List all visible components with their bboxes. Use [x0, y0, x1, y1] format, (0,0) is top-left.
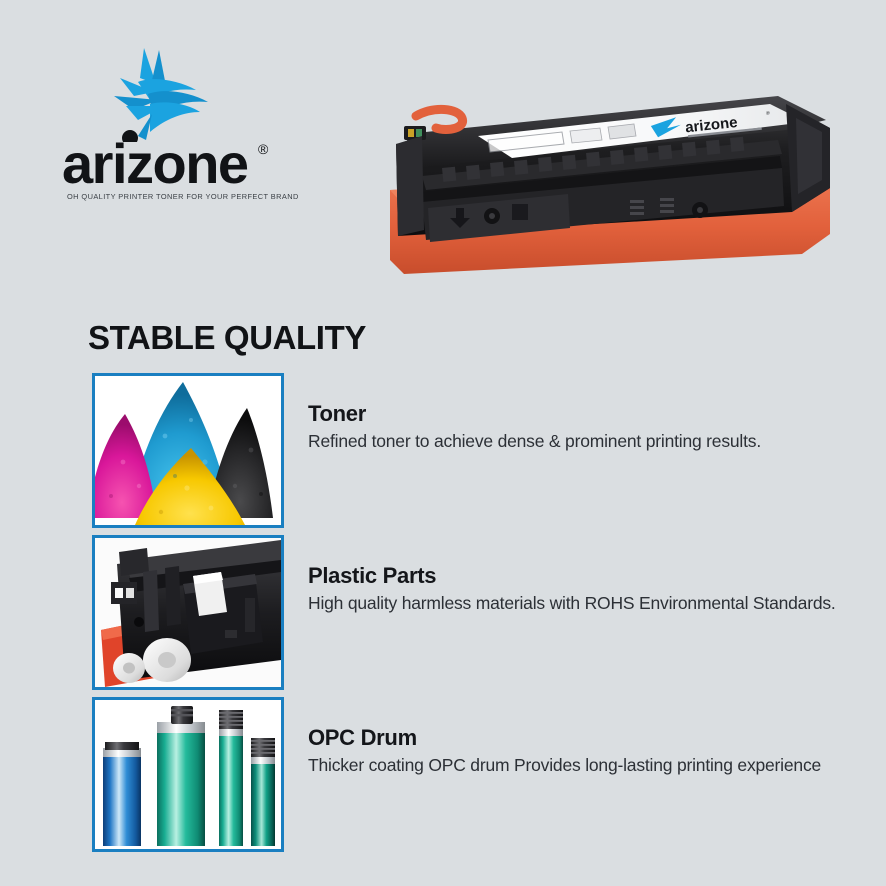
feature-thumbnail-frame	[92, 535, 284, 690]
feature-title: OPC Drum	[308, 725, 848, 751]
opc-drum-tubes-photo	[95, 700, 281, 849]
feature-description: Thicker coating OPC drum Provides long-l…	[308, 754, 848, 777]
brand-logo: arizone ® OH QUALITY PRINTER TONER FOR Y…	[62, 42, 292, 197]
feature-text-block: OPC Drum Thicker coating OPC drum Provid…	[308, 725, 848, 777]
feature-thumbnail-frame	[92, 697, 284, 852]
brand-tagline: OH QUALITY PRINTER TONER FOR YOUR PERFEC…	[67, 192, 289, 201]
feature-description: Refined toner to achieve dense & promine…	[308, 430, 848, 453]
feature-title: Plastic Parts	[308, 563, 848, 589]
feature-text-block: Plastic Parts High quality harmless mate…	[308, 563, 848, 615]
bird-logo-icon	[104, 44, 216, 142]
feature-text-block: Toner Refined toner to achieve dense & p…	[308, 401, 848, 453]
feature-thumbnail-frame	[92, 373, 284, 528]
page-title: STABLE QUALITY	[88, 319, 366, 357]
feature-description: High quality harmless materials with ROH…	[308, 592, 848, 615]
toner-cartridge-photo: arizone ®	[382, 84, 838, 280]
cartridge-plastic-parts-photo	[95, 538, 281, 687]
feature-title: Toner	[308, 401, 848, 427]
registered-trademark-icon: ®	[258, 141, 268, 157]
cmyk-toner-powder-photo	[95, 376, 281, 525]
